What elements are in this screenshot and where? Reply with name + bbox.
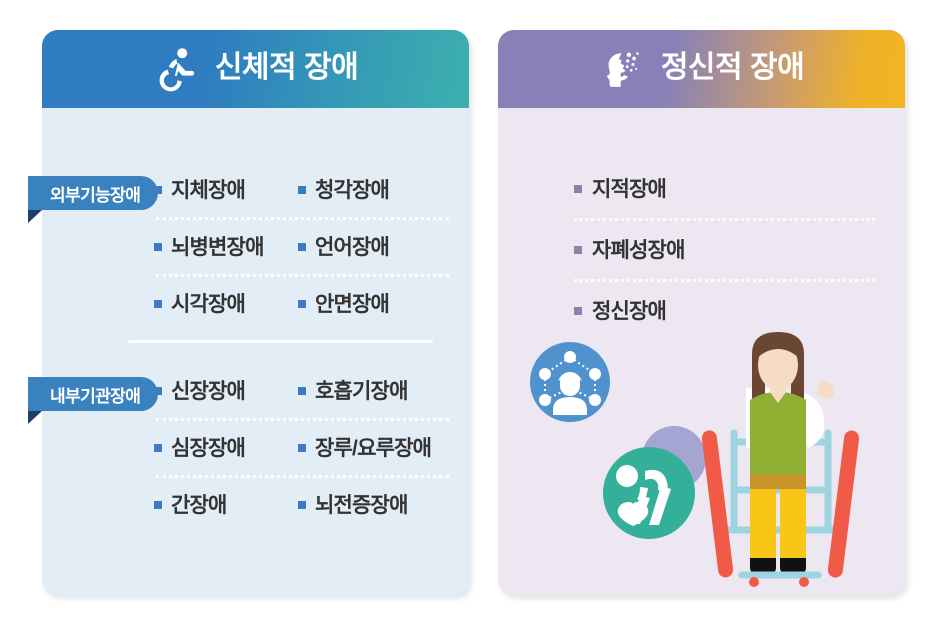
panel-mental-disability: 정신적 장애 지적장애 자폐성장애 정신장애 [498, 30, 905, 595]
group-external-rows: 지체장애 청각장애 뇌병변장애 언어장애 [154, 163, 451, 331]
item-cell: 호흡기장애 [298, 381, 451, 402]
panel-physical-header: 신체적 장애 [42, 30, 469, 108]
list-item: 심장장애 장루/요루장애 [154, 421, 451, 475]
item-label: 뇌병변장애 [171, 237, 264, 258]
list-item: 신장장애 호흡기장애 [154, 364, 451, 418]
bullet-square-icon [298, 186, 306, 194]
bullet-square-icon [298, 243, 306, 251]
list-item: 간장애 뇌전증장애 [154, 478, 451, 532]
list-item: 지적장애 [574, 160, 875, 218]
row-separator [156, 475, 449, 478]
list-item: 자폐성장애 [574, 221, 875, 279]
item-label: 자폐성장애 [592, 240, 685, 261]
list-item: 지체장애 청각장애 [154, 163, 451, 217]
person-network-icon [530, 342, 610, 422]
bullet-square-icon [298, 444, 306, 452]
bullet-square-icon [574, 185, 582, 193]
item-cell: 언어장애 [298, 237, 451, 258]
bullet-square-icon [154, 444, 162, 452]
elderly-care-heart-icon [603, 447, 695, 539]
brain-dissolving-head-icon [599, 46, 645, 92]
row-separator [574, 279, 875, 282]
item-cell: 지체장애 [154, 180, 298, 201]
woman-on-parallel-bars [701, 332, 860, 587]
bullet-square-icon [154, 243, 162, 251]
item-label: 심장장애 [171, 438, 245, 459]
item-label: 지적장애 [592, 179, 666, 200]
item-cell: 뇌전증장애 [298, 495, 451, 516]
item-label: 시각장애 [171, 294, 245, 315]
infographic-canvas: 신체적 장애 외부기능장애 지체장애 청각장애 뇌병변장애 [0, 0, 943, 620]
bullet-square-icon [298, 501, 306, 509]
item-cell: 간장애 [154, 495, 298, 516]
bullet-square-icon [154, 501, 162, 509]
item-cell: 장루/요루장애 [298, 438, 451, 459]
item-label: 정신장애 [592, 301, 666, 322]
item-label: 장루/요루장애 [315, 438, 431, 459]
item-label: 언어장애 [315, 237, 389, 258]
bullet-square-icon [298, 300, 306, 308]
row-separator [156, 418, 449, 421]
item-label: 청각장애 [315, 180, 389, 201]
item-cell: 안면장애 [298, 294, 451, 315]
item-cell: 뇌병변장애 [154, 237, 298, 258]
mental-items-list: 지적장애 자폐성장애 정신장애 [574, 160, 875, 340]
list-item: 시각장애 안면장애 [154, 277, 451, 331]
item-cell: 청각장애 [298, 180, 451, 201]
group-divider [128, 340, 433, 343]
item-cell: 심장장애 [154, 438, 298, 459]
row-separator [574, 218, 875, 221]
bullet-square-icon [574, 307, 582, 315]
item-label: 안면장애 [315, 294, 389, 315]
bullet-square-icon [154, 300, 162, 308]
group-internal-rows: 신장장애 호흡기장애 심장장애 장루/요루장애 [154, 364, 451, 532]
mental-illustration [498, 330, 905, 595]
group-tag-external: 외부기능장애 [28, 176, 158, 210]
item-label: 지체장애 [171, 180, 245, 201]
panel-physical-disability: 신체적 장애 외부기능장애 지체장애 청각장애 뇌병변장애 [42, 30, 469, 595]
bullet-square-icon [298, 387, 306, 395]
item-label: 뇌전증장애 [315, 495, 408, 516]
panel-mental-title: 정신적 장애 [661, 53, 804, 85]
wheelchair-accessibility-icon [153, 46, 199, 92]
item-cell: 신장장애 [154, 381, 298, 402]
row-separator [156, 274, 449, 277]
row-separator [156, 217, 449, 220]
bullet-square-icon [574, 246, 582, 254]
list-item: 뇌병변장애 언어장애 [154, 220, 451, 274]
item-label: 호흡기장애 [315, 381, 408, 402]
group-tag-internal: 내부기관장애 [28, 377, 158, 411]
item-label: 간장애 [171, 495, 227, 516]
item-cell: 시각장애 [154, 294, 298, 315]
panel-physical-title: 신체적 장애 [215, 53, 358, 85]
item-label: 신장장애 [171, 381, 245, 402]
panel-mental-header: 정신적 장애 [498, 30, 905, 108]
